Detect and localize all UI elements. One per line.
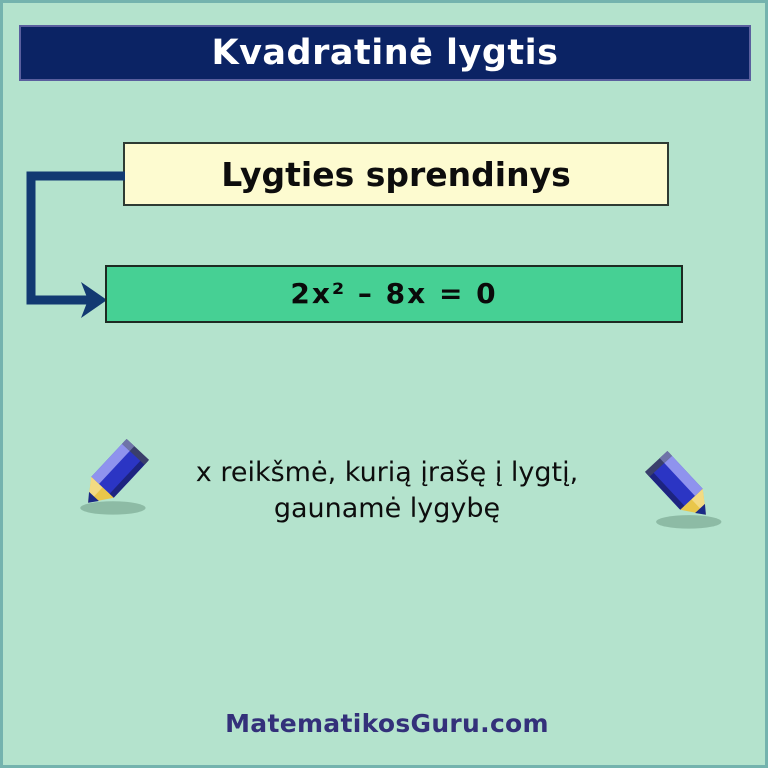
equation-box: 2x² – 8x = 0 [105, 265, 683, 323]
site-watermark: MatematikosGuru.com [225, 709, 549, 738]
footer: MatematikosGuru.com [3, 709, 768, 738]
caption: x reikšmė, kurią įrašę į lygtį, gaunamė … [123, 455, 651, 526]
caption-line-1: x reikšmė, kurią įrašę į lygtį, [123, 455, 651, 491]
pencil-icon [635, 447, 731, 543]
equation-expression: 2x² – 8x = 0 [290, 280, 497, 308]
caption-line-2: gaunamė lygybę [123, 491, 651, 527]
infographic-canvas: Kvadratinė lygtis Lygties sprendinys 2x²… [0, 0, 768, 768]
title-bar: Kvadratinė lygtis [19, 25, 751, 81]
concept-box: Lygties sprendinys [123, 142, 669, 206]
concept-label: Lygties sprendinys [221, 158, 571, 191]
page-title: Kvadratinė lygtis [212, 36, 559, 71]
